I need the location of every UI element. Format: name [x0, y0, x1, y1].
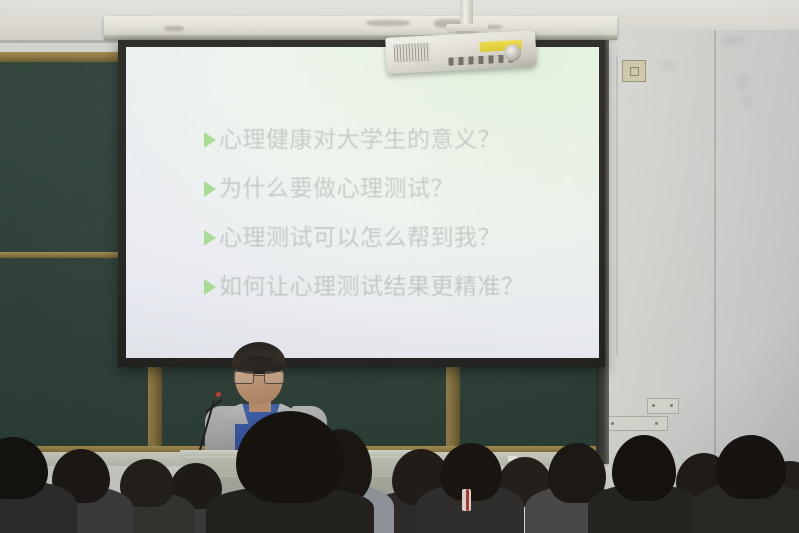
slide-bullet-4: 如何让心理测试结果更精准？: [204, 272, 585, 302]
projector-lens: [504, 44, 522, 62]
collar-stripe-accent: [466, 489, 469, 511]
right-wall-seam-secondary: [616, 55, 618, 355]
lecture-hall-photo: 心理健康对大学生的意义？ 为什么要做心理测试？ 心理测试可以怎么帮到我？ 如何让…: [0, 0, 799, 533]
projection-screen-frame: 心理健康对大学生的意义？ 为什么要做心理测试？ 心理测试可以怎么帮到我？ 如何让…: [118, 40, 605, 367]
presenter-hair: [232, 342, 286, 374]
microphone-indicator-light: [216, 392, 221, 397]
audience-head: [716, 435, 786, 499]
wall-smudge: [660, 62, 676, 69]
projector-mount-pole: [460, 0, 473, 26]
audience-head: [236, 411, 344, 503]
slide-bullet-2: 为什么要做心理测试？: [204, 174, 585, 204]
audience-head: [612, 435, 676, 501]
glasses-icon: [233, 371, 285, 383]
slide-bullet-list: 心理健康对大学生的意义？ 为什么要做心理测试？ 心理测试可以怎么帮到我？ 如何让…: [204, 125, 585, 321]
projector-vent-grille: [394, 43, 431, 63]
projection-screen-surface[interactable]: 心理健康对大学生的意义？ 为什么要做心理测试？ 心理测试可以怎么帮到我？ 如何让…: [126, 47, 599, 358]
play-triangle-icon: [204, 279, 216, 295]
slide-bullet-text: 心理健康对大学生的意义？: [219, 129, 501, 152]
slide-bullet-text: 如何让心理测试结果更精准？: [219, 276, 525, 299]
play-triangle-icon: [204, 181, 216, 197]
audience-head: [440, 443, 502, 501]
slide-bullet-text: 心理测试可以怎么帮到我？: [219, 227, 501, 250]
right-wall-seam: [714, 30, 716, 460]
slide-bullet-3: 心理测试可以怎么帮到我？: [204, 223, 585, 253]
wall-smudge: [744, 96, 751, 108]
audience-head: [0, 437, 48, 499]
slide-bullet-text: 为什么要做心理测试？: [219, 178, 454, 201]
play-triangle-icon: [204, 132, 216, 148]
wall-outlet-box[interactable]: [622, 60, 646, 82]
audience-group: [0, 403, 799, 533]
wall-smudge: [738, 74, 748, 90]
slide-bullet-1: 心理健康对大学生的意义？: [204, 125, 585, 155]
wall-smudge: [720, 36, 746, 45]
play-triangle-icon: [204, 230, 216, 246]
